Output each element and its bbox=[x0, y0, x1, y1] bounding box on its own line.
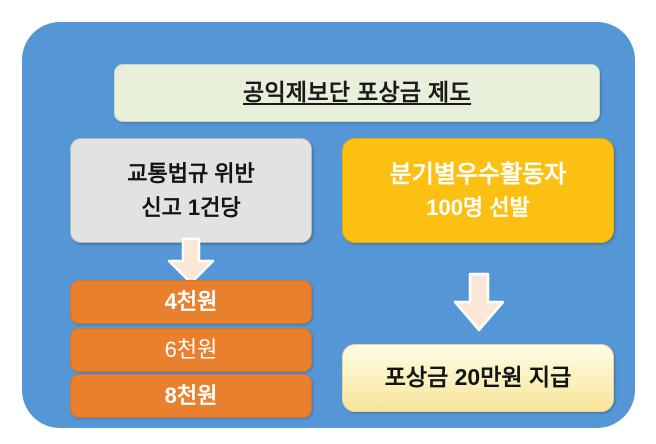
diagram-title-card: 공익제보단 포상금 제도 bbox=[114, 64, 600, 122]
down-arrow-icon bbox=[163, 237, 219, 285]
right-branch-result: 포상금 20만원 지급 bbox=[342, 344, 614, 412]
right-branch-header: 분기별우수활동자 100명 선발 bbox=[342, 138, 614, 243]
right-branch-header-line-1: 분기별우수활동자 bbox=[390, 161, 567, 189]
reward-bar: 6천원 bbox=[70, 328, 312, 372]
left-branch-header-line-2: 신고 1건당 bbox=[141, 195, 240, 220]
down-arrow-icon bbox=[448, 271, 510, 333]
diagram-panel: 공익제보단 포상금 제도 교통법규 위반 신고 1건당 4천원 6천원 8천원 … bbox=[22, 22, 635, 428]
right-branch-result-label: 포상금 20만원 지급 bbox=[385, 365, 571, 390]
right-branch-header-line-2: 100명 선발 bbox=[426, 195, 530, 220]
reward-bar-label: 6천원 bbox=[165, 339, 218, 361]
reward-bar-label: 4천원 bbox=[165, 291, 218, 313]
page-title: 공익제보단 포상금 제도 bbox=[243, 80, 471, 105]
reward-bar-label: 8천원 bbox=[165, 385, 218, 407]
reward-bar: 8천원 bbox=[70, 374, 312, 418]
left-branch-header: 교통법규 위반 신고 1건당 bbox=[70, 138, 312, 243]
reward-bar: 4천원 bbox=[70, 280, 312, 324]
infographic-canvas: 공익제보단 포상금 제도 교통법규 위반 신고 1건당 4천원 6천원 8천원 … bbox=[0, 0, 656, 444]
left-branch-header-line-1: 교통법규 위반 bbox=[127, 161, 255, 186]
